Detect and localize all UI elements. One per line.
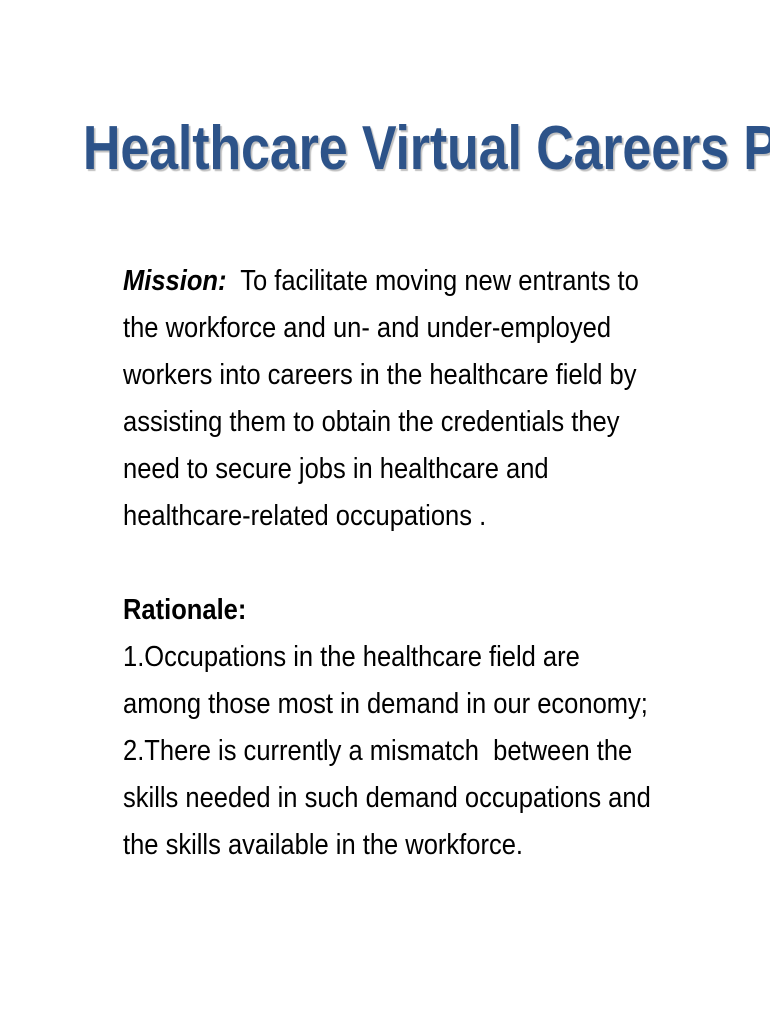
list-item: 2.There is currently a mismatch between … <box>123 728 663 869</box>
mission-label: Mission: <box>123 265 227 297</box>
list-item: 1.Occupations in the healthcare field ar… <box>123 634 663 728</box>
mission-text: To facilitate moving new entrants to the… <box>123 265 646 532</box>
page-title: Healthcare Virtual Careers Platform <box>83 118 770 180</box>
paragraph-spacer <box>123 540 663 587</box>
mission-paragraph: Mission: To facilitate moving new entran… <box>123 258 663 540</box>
rationale-heading: Rationale: <box>123 587 663 634</box>
presentation-slide: Healthcare Virtual Careers Platform Miss… <box>0 0 770 1024</box>
slide-title-container: Healthcare Virtual Careers Platform <box>0 118 770 180</box>
slide-body: Mission: To facilitate moving new entran… <box>123 258 663 869</box>
